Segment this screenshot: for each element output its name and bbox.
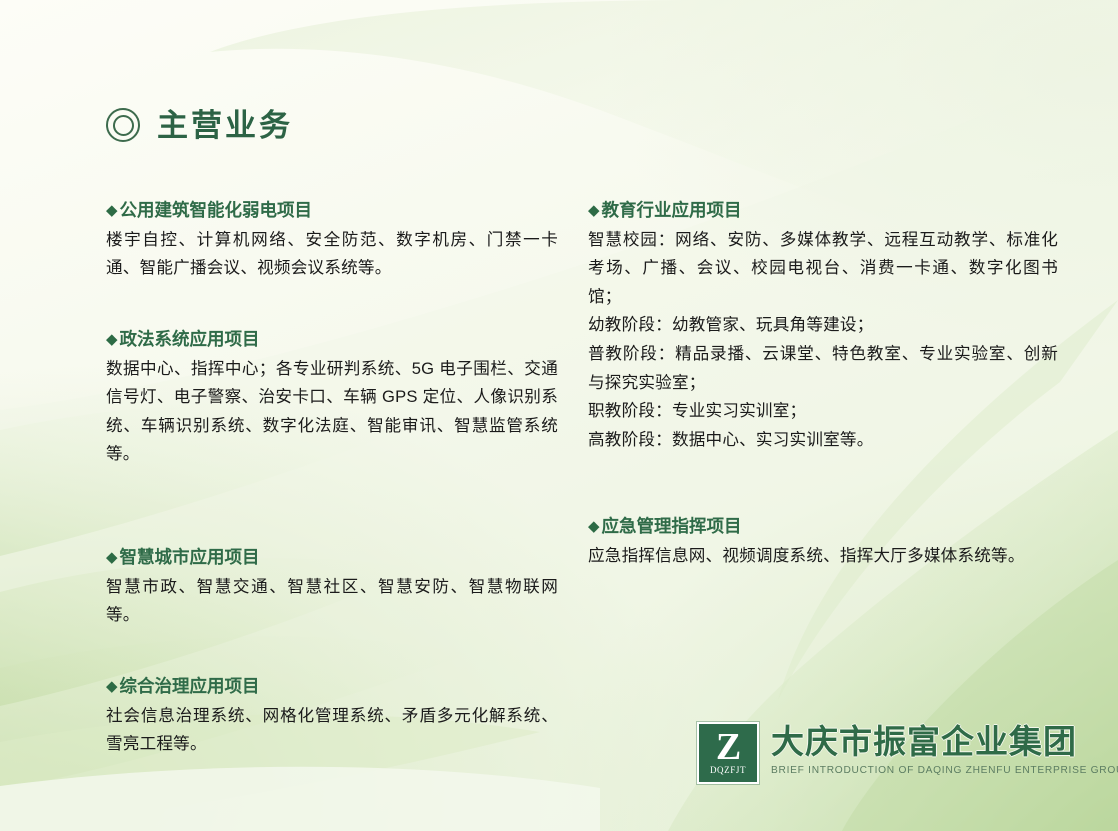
heading-text: 教育行业应用项目 — [602, 200, 742, 222]
body-line: 幼教阶段：幼教管家、玩具角等建设； — [588, 311, 1058, 340]
diamond-bullet-icon: ◆ — [106, 679, 118, 694]
diamond-bullet-icon: ◆ — [106, 332, 118, 347]
body-line: 高教阶段：数据中心、实习实训室等。 — [588, 426, 1058, 455]
right-column: ◆ 教育行业应用项目 智慧校园：网络、安防、多媒体教学、远程互动教学、标准化考场… — [588, 200, 1058, 571]
business-item-body: 楼宇自控、计算机网络、安全防范、数字机房、门禁一卡通、智能广播会议、视频会议系统… — [106, 226, 558, 283]
heading-text: 应急管理指挥项目 — [602, 516, 742, 538]
business-item-public-building: ◆ 公用建筑智能化弱电项目 楼宇自控、计算机网络、安全防范、数字机房、门禁一卡通… — [106, 200, 558, 283]
diamond-bullet-icon: ◆ — [106, 550, 118, 565]
business-item-heading: ◆ 智慧城市应用项目 — [106, 547, 558, 569]
business-item-heading: ◆ 应急管理指挥项目 — [588, 516, 1058, 538]
body-line: 应急指挥信息网、视频调度系统、指挥大厅多媒体系统等。 — [588, 542, 1058, 571]
body-line: 数据中心、指挥中心；各专业研判系统、5G 电子围栏、交通信号灯、电子警察、治安卡… — [106, 355, 558, 469]
business-item-smart-city: ◆ 智慧城市应用项目 智慧市政、智慧交通、智慧社区、智慧安防、智慧物联网等。 — [106, 547, 558, 630]
business-item-body: 智慧校园：网络、安防、多媒体教学、远程互动教学、标准化考场、广播、会议、校园电视… — [588, 226, 1058, 454]
business-item-political-legal: ◆ 政法系统应用项目 数据中心、指挥中心；各专业研判系统、5G 电子围栏、交通信… — [106, 329, 558, 469]
heading-text: 综合治理应用项目 — [120, 676, 260, 698]
logo-letter: Z — [716, 731, 740, 764]
body-line: 智慧校园：网络、安防、多媒体教学、远程互动教学、标准化考场、广播、会议、校园电视… — [588, 226, 1058, 312]
business-item-heading: ◆ 教育行业应用项目 — [588, 200, 1058, 222]
double-circle-icon — [106, 108, 140, 142]
logo-wordmark: 大庆市振富企业集团 BRIEF INTRODUCTION OF DAQING Z… — [771, 722, 1118, 777]
business-item-body: 智慧市政、智慧交通、智慧社区、智慧安防、智慧物联网等。 — [106, 573, 558, 630]
logo-abbreviation: DQZFJT — [710, 766, 746, 775]
company-name-en: BRIEF INTRODUCTION OF DAQING ZHENFU ENTE… — [771, 765, 1118, 777]
page-title: 主营业务 — [106, 108, 293, 142]
heading-text: 智慧城市应用项目 — [120, 547, 260, 569]
business-item-comprehensive-governance: ◆ 综合治理应用项目 社会信息治理系统、网格化管理系统、矛盾多元化解系统、雪亮工… — [106, 676, 558, 759]
body-line: 社会信息治理系统、网格化管理系统、矛盾多元化解系统、雪亮工程等。 — [106, 702, 558, 759]
company-name-cn: 大庆市振富企业集团 — [771, 724, 1118, 760]
business-item-body: 社会信息治理系统、网格化管理系统、矛盾多元化解系统、雪亮工程等。 — [106, 702, 558, 759]
business-item-emergency-management: ◆ 应急管理指挥项目 应急指挥信息网、视频调度系统、指挥大厅多媒体系统等。 — [588, 516, 1058, 570]
business-item-heading: ◆ 政法系统应用项目 — [106, 329, 558, 351]
body-line: 职教阶段：专业实习实训室； — [588, 397, 1058, 426]
business-item-body: 应急指挥信息网、视频调度系统、指挥大厅多媒体系统等。 — [588, 542, 1058, 571]
body-line: 智慧市政、智慧交通、智慧社区、智慧安防、智慧物联网等。 — [106, 573, 558, 630]
business-item-body: 数据中心、指挥中心；各专业研判系统、5G 电子围栏、交通信号灯、电子警察、治安卡… — [106, 355, 558, 469]
diamond-bullet-icon: ◆ — [588, 519, 600, 534]
heading-text: 公用建筑智能化弱电项目 — [120, 200, 313, 222]
body-line: 楼宇自控、计算机网络、安全防范、数字机房、门禁一卡通、智能广播会议、视频会议系统… — [106, 226, 558, 283]
diamond-bullet-icon: ◆ — [106, 203, 118, 218]
diamond-bullet-icon: ◆ — [588, 203, 600, 218]
business-item-heading: ◆ 公用建筑智能化弱电项目 — [106, 200, 558, 222]
company-logo: Z DQZFJT 大庆市振富企业集团 BRIEF INTRODUCTION OF… — [697, 722, 1118, 784]
brochure-page: 主营业务 ◆ 公用建筑智能化弱电项目 楼宇自控、计算机网络、安全防范、数字机房、… — [0, 0, 1118, 831]
logo-mark-icon: Z DQZFJT — [697, 722, 759, 784]
business-item-heading: ◆ 综合治理应用项目 — [106, 676, 558, 698]
business-item-education: ◆ 教育行业应用项目 智慧校园：网络、安防、多媒体教学、远程互动教学、标准化考场… — [588, 200, 1058, 454]
body-line: 普教阶段：精品录播、云课堂、特色教室、专业实验室、创新与探究实验室； — [588, 340, 1058, 397]
page-title-text: 主营业务 — [157, 110, 293, 141]
heading-text: 政法系统应用项目 — [120, 329, 260, 351]
left-column: ◆ 公用建筑智能化弱电项目 楼宇自控、计算机网络、安全防范、数字机房、门禁一卡通… — [106, 200, 558, 759]
